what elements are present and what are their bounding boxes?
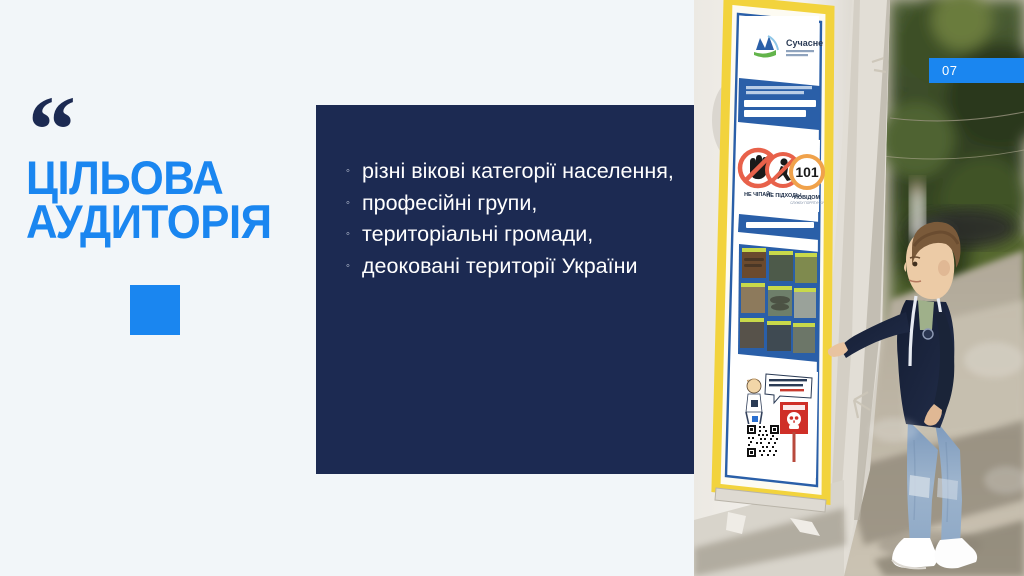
list-item-label: деоковані території України: [362, 252, 690, 281]
list-item-label: територіальні громади,: [362, 220, 690, 249]
list-item: ◦деоковані території України: [346, 252, 690, 281]
list-item: ◦професійні групи,: [346, 189, 690, 218]
page-number-badge: 07: [929, 58, 1024, 83]
bullet-circle-icon: ◦: [346, 229, 362, 240]
slide-photo: Сучасне: [694, 0, 1024, 576]
svg-text:Сучасне: Сучасне: [786, 38, 823, 48]
accent-square-decoration: [130, 285, 180, 335]
bullet-circle-icon: ◦: [346, 261, 362, 272]
list-item: ◦територіальні громади,: [346, 220, 690, 249]
svg-text:СЛУЖБУ ПОРЯТУНКУ: СЛУЖБУ ПОРЯТУНКУ: [790, 201, 824, 205]
content-panel: ◦різні вікові категорії населення,◦профе…: [316, 105, 704, 474]
audience-bullet-list: ◦різні вікові категорії населення,◦профе…: [346, 157, 690, 283]
list-item-label: професійні групи,: [362, 189, 690, 218]
list-item-label: різні вікові категорії населення,: [362, 157, 690, 186]
slide-root: “ ЦІЛЬОВА АУДИТОРІЯ ◦різні вікові катего…: [0, 0, 1024, 576]
page-title: ЦІЛЬОВА АУДИТОРІЯ: [26, 156, 333, 243]
svg-text:101: 101: [795, 164, 819, 180]
bullet-circle-icon: ◦: [346, 166, 362, 177]
list-item: ◦різні вікові категорії населення,: [346, 157, 690, 186]
bullet-circle-icon: ◦: [346, 198, 362, 209]
page-number-value: 07: [942, 63, 957, 78]
